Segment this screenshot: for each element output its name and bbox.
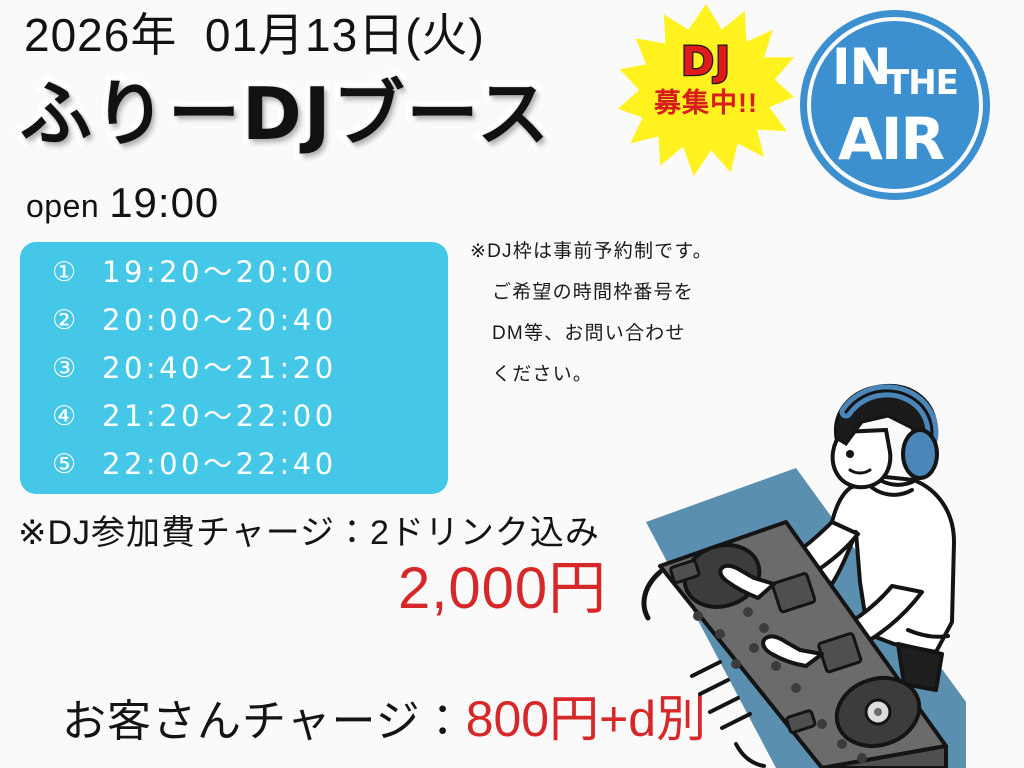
knob (759, 623, 769, 633)
knob (791, 683, 801, 693)
motion-arc (736, 744, 764, 766)
schedule-slot-2: ② 20:00〜20:40 (20, 296, 448, 344)
schedule-slot-1: ① 19:20〜20:00 (20, 248, 448, 296)
event-date: 2026年 01月13日(火) (24, 12, 485, 58)
slot-number: ③ (52, 355, 102, 382)
note-line-3: DM等、お問い合わせ (470, 324, 770, 343)
logo-text-in: IN (832, 42, 890, 92)
open-label: open (26, 190, 99, 222)
badge-subtitle: 募集中!! (618, 90, 794, 117)
slot-time: 19:20〜20:00 (102, 258, 337, 287)
dj-charge-price: 2,000円 (398, 560, 607, 618)
logo-text-air: AIR (838, 110, 943, 168)
dj-eye (846, 450, 854, 458)
slot-time: 22:00〜22:40 (102, 450, 337, 479)
slot-time: 20:40〜21:20 (102, 354, 337, 383)
motion-line (692, 662, 720, 676)
slot-number: ② (52, 307, 102, 334)
motion-line (710, 698, 738, 712)
guest-charge-row: お客さんチャージ： 800円+d別 (62, 694, 706, 744)
guest-charge-label: お客さんチャージ： (62, 700, 466, 744)
motion-line (722, 714, 750, 728)
flyer-canvas: 2026年 01月13日(火) ふりーDJブース open 19:00 ① 19… (0, 0, 1024, 768)
knob (817, 719, 827, 729)
knob (731, 659, 741, 669)
in-the-air-logo: IN THE AIR (800, 10, 990, 200)
headphone-cup-icon (903, 430, 937, 478)
dj-illustration (636, 372, 1024, 768)
knob (857, 753, 867, 763)
jog-wheel-spindle (874, 708, 882, 716)
schedule-slot-5: ⑤ 22:00〜22:40 (20, 440, 448, 488)
dj-charge-label: ※DJ参加費チャージ：2ドリンク込み (18, 516, 600, 550)
schedule-box: ① 19:20〜20:00 ② 20:00〜20:40 ③ 20:40〜21:2… (20, 242, 448, 494)
slot-number: ④ (52, 403, 102, 430)
motion-line (700, 680, 728, 694)
knob (771, 661, 781, 671)
knob (693, 611, 703, 621)
logo-text-the: THE (886, 66, 958, 100)
slot-number: ① (52, 259, 102, 286)
open-time-row: open 19:00 (26, 182, 219, 224)
schedule-slot-3: ③ 20:40〜21:20 (20, 344, 448, 392)
schedule-slot-4: ④ 21:20〜22:00 (20, 392, 448, 440)
open-time-value: 19:00 (109, 182, 219, 224)
dj-recruiting-badge: DJ 募集中!! (618, 4, 794, 176)
note-line-1: ※DJ枠は事前予約制です。 (470, 242, 770, 261)
cable (644, 572, 660, 618)
slot-number: ⑤ (52, 451, 102, 478)
knob (837, 739, 847, 749)
knob (749, 643, 759, 653)
knob (715, 629, 725, 639)
badge-title: DJ (618, 42, 794, 82)
slot-time: 21:20〜22:00 (102, 402, 337, 431)
knob (743, 607, 753, 617)
note-line-2: ご希望の時間枠番号を (470, 283, 770, 302)
slot-time: 20:00〜20:40 (102, 306, 337, 335)
page-title: ふりーDJブース (20, 78, 551, 150)
